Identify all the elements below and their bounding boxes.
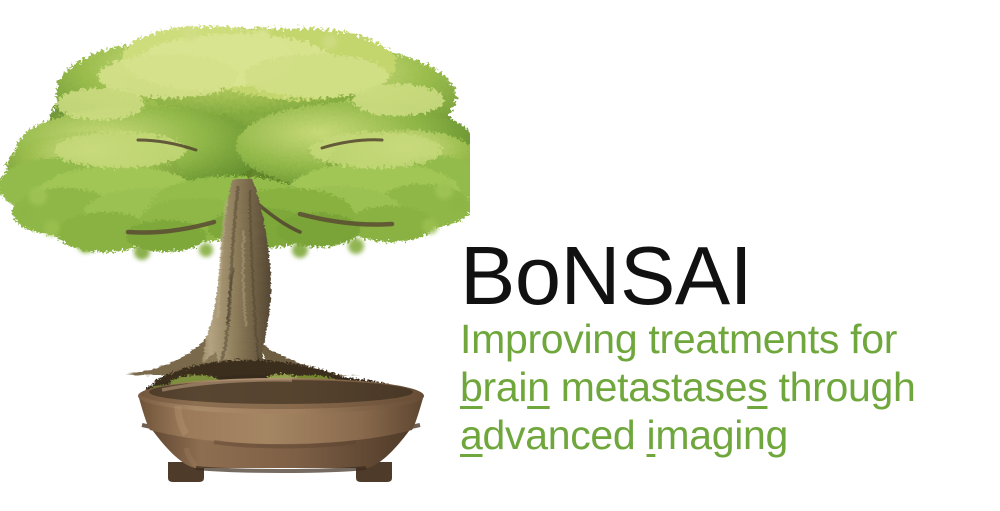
acronym-letter: b bbox=[460, 364, 483, 410]
pot-bottom-edge bbox=[196, 468, 366, 471]
acronym-letter: n bbox=[527, 364, 550, 410]
tagline-text: through bbox=[767, 364, 915, 410]
bonsai-tree-image bbox=[0, 0, 470, 500]
tagline-line-2: brain metastases through bbox=[460, 364, 993, 412]
tagline-text: rai bbox=[483, 364, 528, 410]
bonsai-tree-illustration bbox=[0, 0, 470, 500]
logo-canvas: BoNSAI Improving treatments for brain me… bbox=[0, 0, 1000, 511]
acronym-letter: a bbox=[460, 412, 483, 458]
tagline-text: Improving treatments for bbox=[460, 316, 897, 362]
tagline: Improving treatments for brain metastase… bbox=[460, 316, 993, 460]
tagline-text: dvanced bbox=[483, 412, 647, 458]
logo-text-block: BoNSAI Improving treatments for brain me… bbox=[458, 238, 993, 460]
tagline-text: maging bbox=[655, 412, 788, 458]
acronym-letter: s bbox=[747, 364, 767, 410]
tagline-text: metastase bbox=[550, 364, 748, 410]
wordmark-bonsai: BoNSAI bbox=[460, 238, 993, 314]
tagline-line-3: advanced imaging bbox=[460, 412, 993, 460]
tagline-line-1: Improving treatments for bbox=[460, 316, 993, 364]
bonsai-pot bbox=[138, 378, 424, 482]
